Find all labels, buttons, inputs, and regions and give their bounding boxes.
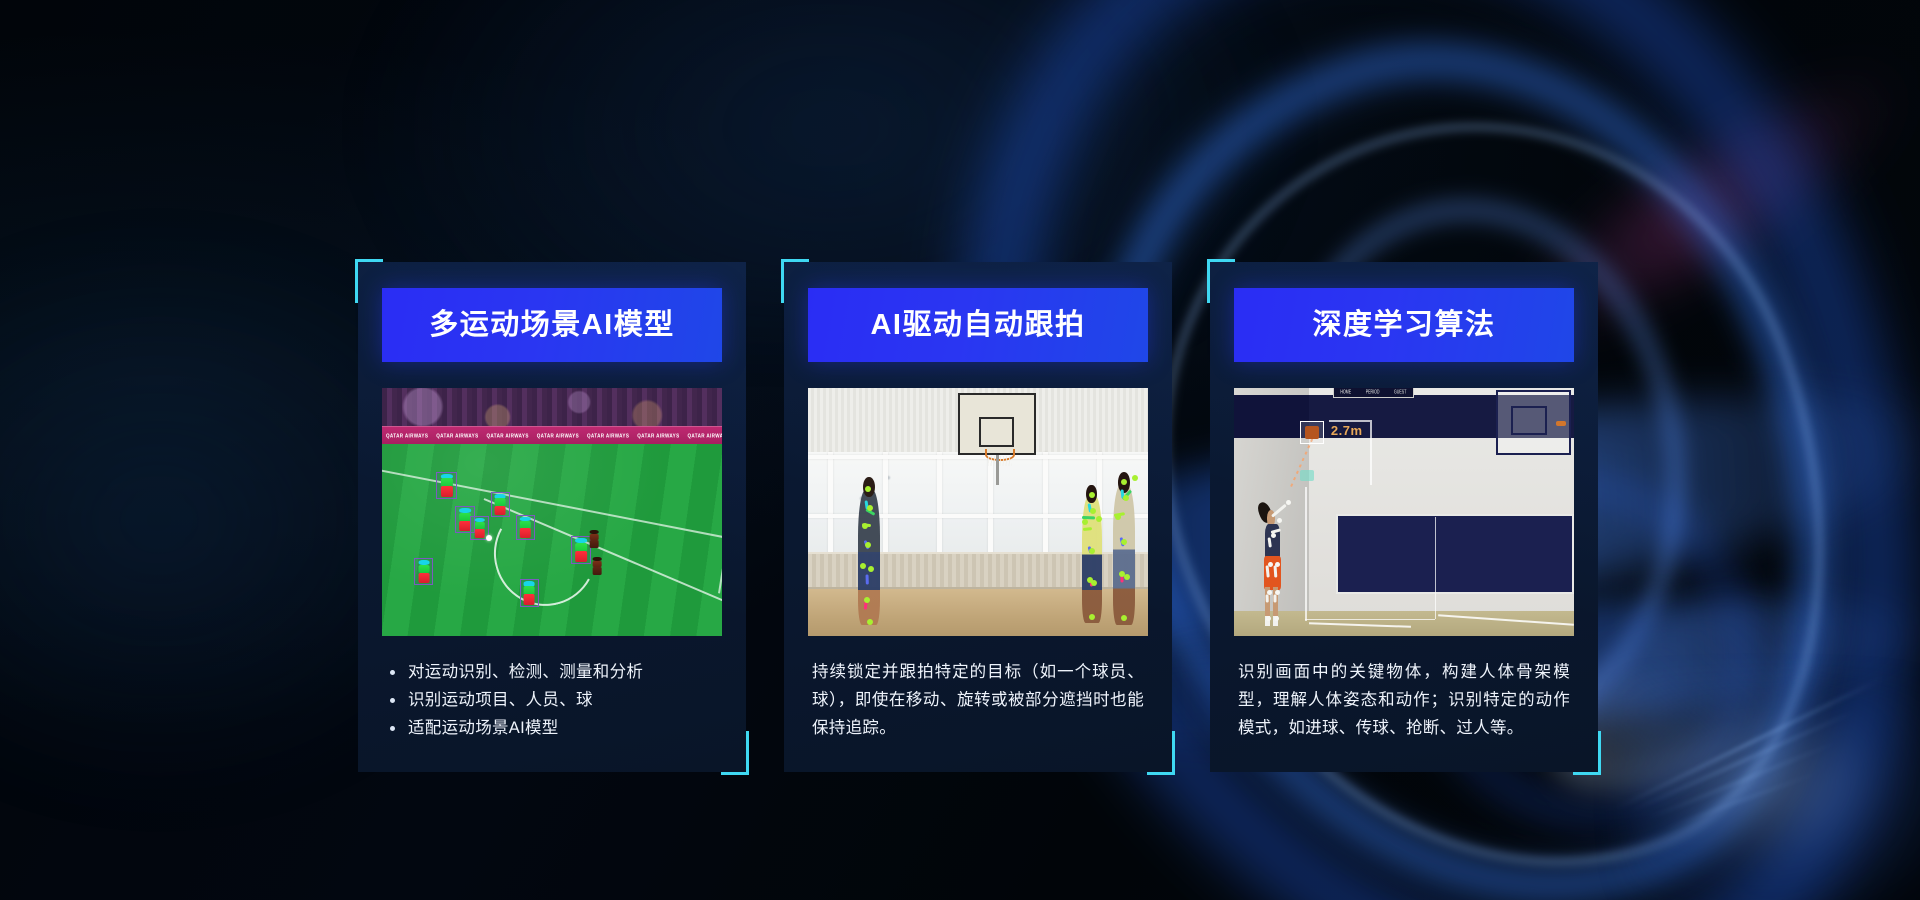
skeleton-joint xyxy=(1089,492,1095,498)
skeleton-joint xyxy=(1089,614,1095,620)
skeleton-joint xyxy=(867,619,873,625)
skeleton-bone xyxy=(1265,594,1268,602)
measurement-label: 2.7m xyxy=(1331,423,1363,438)
card-body: 对运动识别、检测、测量和分析识别运动项目、人员、球适配运动场景AI模型 xyxy=(382,636,722,742)
skeleton-joint xyxy=(1123,495,1129,501)
slide-canvas: 多运动场景AI模型 QATAR AIRWAYSQATAR AIRWAYSQATA… xyxy=(0,0,1920,900)
tracking-guide-vertical xyxy=(1305,487,1307,621)
light-streak-4 xyxy=(1660,771,1820,831)
skeleton-joint xyxy=(1124,574,1130,580)
skeleton-joint xyxy=(1115,514,1121,520)
basketball-net xyxy=(988,456,1012,466)
card-title: AI驱动自动跟拍 xyxy=(870,311,1085,340)
ad-board-text: QATAR AIRWAYS xyxy=(684,433,723,439)
soccer-ball xyxy=(486,535,492,541)
card-header-bar: 多运动场景AI模型 xyxy=(382,288,722,362)
player-segmentation-mask xyxy=(459,521,471,531)
card-media-shot-trajectory: HOMEPERIODGUEST 2.7m xyxy=(1234,388,1574,636)
scoreboard-label: GUEST xyxy=(1394,389,1406,395)
hoop-support-pole xyxy=(996,455,999,485)
ad-board-text: QATAR AIRWAYS xyxy=(382,433,432,439)
player-segmentation-mask xyxy=(575,551,587,562)
ad-board-text: QATAR AIRWAYS xyxy=(432,433,482,439)
backboard-inner-square xyxy=(1511,406,1548,435)
player-segmentation-mask xyxy=(441,486,453,496)
player-segmentation-mask xyxy=(593,567,602,575)
skeleton-joint xyxy=(1089,548,1095,554)
skeleton-joint xyxy=(1277,518,1282,523)
corner-bracket-bottom-right xyxy=(1573,731,1601,775)
corner-bracket-top-left xyxy=(1207,259,1235,303)
lower-wall-padding xyxy=(1336,514,1574,593)
skeleton-joint xyxy=(865,542,871,548)
soccer-pitch xyxy=(382,444,722,636)
card-media-gym-pose-tracking xyxy=(808,388,1148,636)
light-streak-2 xyxy=(1628,709,1857,813)
feature-description: 持续锁定并跟拍特定的目标（如一个球员、球），即使在移动、旋转或被部分遮挡时也能保… xyxy=(812,658,1144,742)
feature-description: 识别画面中的关键物体，构建人体骨架模型，理解人体姿态和动作；识别特定的动作模式，… xyxy=(1238,658,1570,742)
shooter-pose-skeleton xyxy=(1258,497,1292,626)
corner-bracket-bottom-right xyxy=(1147,731,1175,775)
player-pose-skeleton xyxy=(852,477,886,631)
feature-bullet-list: 对运动识别、检测、测量和分析识别运动项目、人员、球适配运动场景AI模型 xyxy=(386,658,718,742)
player-detection-box xyxy=(586,528,602,549)
ad-board-text: QATAR AIRWAYS xyxy=(483,433,533,439)
ad-board-text: QATAR AIRWAYS xyxy=(583,433,633,439)
feature-bullet-item: 识别运动项目、人员、球 xyxy=(386,686,718,714)
feature-card-row: 多运动场景AI模型 QATAR AIRWAYSQATAR AIRWAYSQATA… xyxy=(358,262,1598,772)
corner-bracket-top-left xyxy=(355,259,383,303)
player-pose-skeleton xyxy=(1107,472,1141,631)
player-segmentation-mask xyxy=(418,573,429,583)
player-pose-skeleton xyxy=(1077,485,1108,629)
player-segmentation-mask xyxy=(524,594,535,605)
skeleton-joint xyxy=(1268,562,1273,567)
card-header-bar: 深度学习算法 xyxy=(1234,288,1574,362)
scoreboard: HOMEPERIODGUEST xyxy=(1333,388,1415,398)
ad-board-text: QATAR AIRWAYS xyxy=(633,433,683,439)
ad-board-text: QATAR AIRWAYS xyxy=(533,433,583,439)
feature-card-ai-auto-tracking[interactable]: AI驱动自动跟拍 xyxy=(784,262,1172,772)
card-body: 识别画面中的关键物体，构建人体骨架模型，理解人体姿态和动作；识别特定的动作模式，… xyxy=(1234,636,1574,742)
feature-bullet-item: 适配运动场景AI模型 xyxy=(386,714,718,742)
feature-card-multi-sport-ai-model[interactable]: 多运动场景AI模型 QATAR AIRWAYSQATAR AIRWAYSQATA… xyxy=(358,262,746,772)
feature-card-deep-learning-algorithm[interactable]: 深度学习算法 HOMEPERIODGUEST xyxy=(1210,262,1598,772)
skeleton-joint xyxy=(1266,616,1271,621)
player-detection-box xyxy=(436,472,457,499)
window-rail xyxy=(808,455,1148,459)
tracking-guide-horizontal xyxy=(1329,420,1370,422)
player-detection-box xyxy=(414,558,433,585)
corner-bracket-bottom-right xyxy=(721,731,749,775)
basketball-rim xyxy=(1556,421,1566,426)
scoreboard-label: PERIOD xyxy=(1366,389,1380,395)
player-detection-box xyxy=(520,579,539,607)
skeleton-bone xyxy=(1273,594,1276,602)
card-title: 深度学习算法 xyxy=(1312,311,1495,340)
card-body: 持续锁定并跟拍特定的目标（如一个球员、球），即使在移动、旋转或被部分遮挡时也能保… xyxy=(808,636,1148,742)
player-body xyxy=(1113,485,1135,625)
player-segmentation-mask xyxy=(474,529,484,538)
card-header-bar: AI驱动自动跟拍 xyxy=(808,288,1148,362)
basketball-backboard xyxy=(1496,390,1571,454)
advertising-board: QATAR AIRWAYSQATAR AIRWAYSQATAR AIRWAYSQ… xyxy=(382,426,722,445)
player-detection-box xyxy=(516,515,534,540)
skeleton-joint xyxy=(1267,590,1272,595)
release-point-marker xyxy=(1300,470,1314,481)
skeleton-bone xyxy=(1273,566,1277,578)
skeleton-joint xyxy=(1274,616,1279,621)
skeleton-joint xyxy=(1275,590,1280,595)
player-segmentation-mask xyxy=(495,506,506,516)
corner-bracket-top-left xyxy=(781,259,809,303)
card-title: 多运动场景AI模型 xyxy=(429,311,675,340)
skeleton-joint xyxy=(1096,516,1102,522)
skeleton-joint xyxy=(1132,475,1138,481)
card-media-soccer-detection: QATAR AIRWAYSQATAR AIRWAYSQATAR AIRWAYSQ… xyxy=(382,388,722,636)
player-segmentation-mask xyxy=(589,540,598,548)
tracking-guide-vertical xyxy=(1435,517,1437,619)
ball-detection-box xyxy=(1300,421,1324,443)
player-detection-box xyxy=(589,555,605,576)
light-streak-3 xyxy=(1643,741,1838,822)
column-padding xyxy=(1234,395,1309,437)
corner-bloom xyxy=(1630,690,1920,900)
skeleton-joint xyxy=(1121,539,1127,545)
basketball-backboard xyxy=(958,393,1036,455)
tracking-guide-vertical xyxy=(1370,420,1372,484)
player-detection-box xyxy=(491,492,510,517)
tracking-guide-horizontal xyxy=(1305,619,1434,621)
soccer-detection-screenshot: QATAR AIRWAYSQATAR AIRWAYSQATAR AIRWAYSQ… xyxy=(382,388,722,636)
skeleton-joint xyxy=(1090,508,1096,514)
shot-analysis-screenshot: HOMEPERIODGUEST 2.7m xyxy=(1234,388,1574,636)
light-streak-1 xyxy=(1615,676,1886,809)
skeleton-joint xyxy=(1271,533,1276,538)
scoreboard-label: HOME xyxy=(1340,389,1351,395)
player-segmentation-mask xyxy=(520,528,530,537)
gym-pose-screenshot xyxy=(808,388,1148,636)
skeleton-bone xyxy=(866,574,869,584)
feature-bullet-item: 对运动识别、检测、测量和分析 xyxy=(386,658,718,686)
skeleton-joint xyxy=(1091,580,1097,586)
skeleton-joint xyxy=(1286,500,1291,505)
